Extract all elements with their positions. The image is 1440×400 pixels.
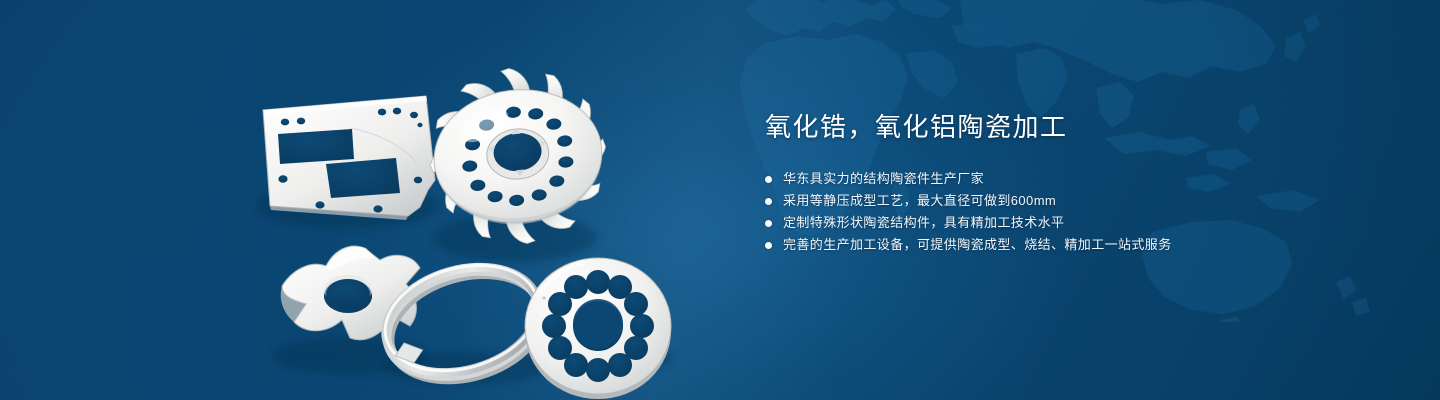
ceramic-machined-plate bbox=[263, 96, 435, 220]
bullet-dot-icon bbox=[765, 176, 772, 183]
page-title: 氧化锆，氧化铝陶瓷加工 bbox=[765, 110, 1385, 144]
feature-text: 定制特殊形状陶瓷结构件，具有精加工技术水平 bbox=[783, 212, 1064, 234]
list-item: 完善的生产加工设备，可提供陶瓷成型、烧结、精加工一站式服务 bbox=[765, 234, 1385, 256]
list-item: 定制特殊形状陶瓷结构件，具有精加工技术水平 bbox=[765, 212, 1385, 234]
list-item: 采用等静压成型工艺，最大直径可做到600mm bbox=[765, 190, 1385, 212]
feature-list: 华东具实力的结构陶瓷件生产厂家 采用等静压成型工艺，最大直径可做到600mm 定… bbox=[765, 168, 1385, 256]
ceramic-cross-plate bbox=[281, 246, 420, 340]
feature-text: 完善的生产加工设备，可提供陶瓷成型、烧结、精加工一站式服务 bbox=[783, 234, 1172, 256]
list-item: 华东具实力的结构陶瓷件生产厂家 bbox=[765, 168, 1385, 190]
bullet-dot-icon bbox=[765, 242, 772, 249]
ceramic-products-image bbox=[230, 38, 700, 378]
feature-text: 华东具实力的结构陶瓷件生产厂家 bbox=[783, 168, 984, 190]
bullet-dot-icon bbox=[765, 220, 772, 227]
ceramic-perforated-disc bbox=[525, 258, 671, 399]
hero-banner: 氧化锆，氧化铝陶瓷加工 华东具实力的结构陶瓷件生产厂家 采用等静压成型工艺，最大… bbox=[0, 0, 1440, 400]
bullet-dot-icon bbox=[765, 198, 772, 205]
feature-text: 采用等静压成型工艺，最大直径可做到600mm bbox=[783, 190, 1056, 212]
banner-copy: 氧化锆，氧化铝陶瓷加工 华东具实力的结构陶瓷件生产厂家 采用等静压成型工艺，最大… bbox=[765, 110, 1385, 256]
